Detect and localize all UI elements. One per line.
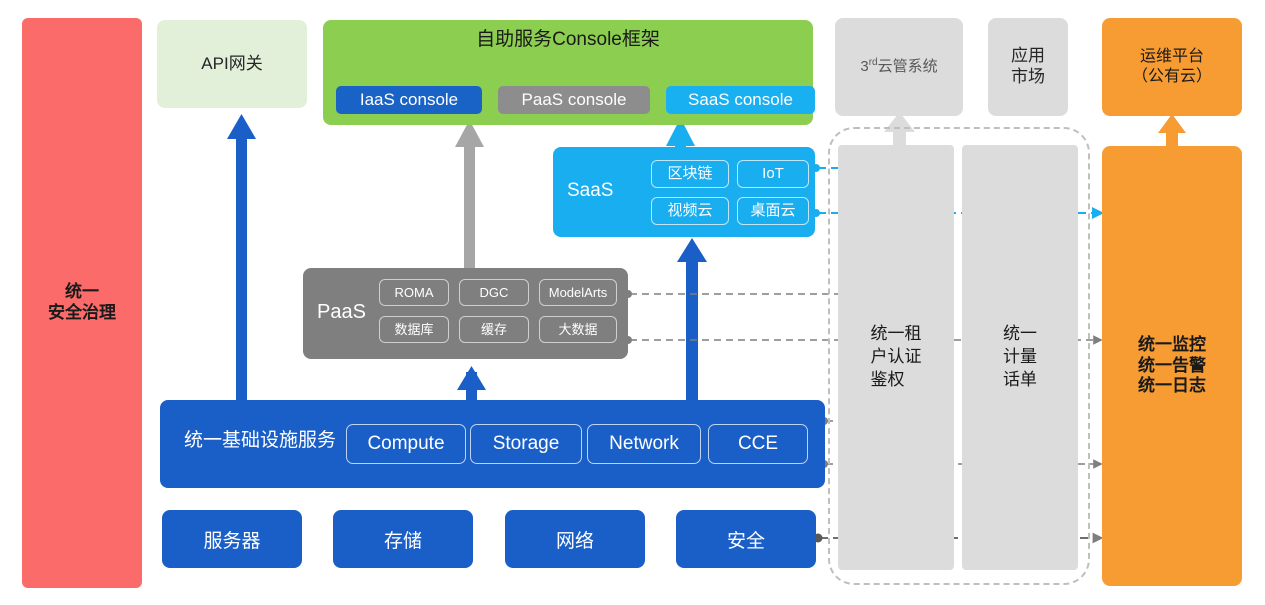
paas-chip-modelarts[interactable]: ModelArts [539,279,617,306]
ops-platform-top-box: 运维平台 （公有云） [1102,18,1242,116]
architecture-diagram: 统一 安全治理 API网关 自助服务Console框架 IaaS console… [0,0,1265,605]
infra-chip-cce[interactable]: CCE [708,424,808,464]
unified-infrastructure-label: 统一基础设施服务 [184,429,336,452]
console-frame-title: 自助服务Console框架 [323,28,813,51]
third-party-cloud-mgmt-box: 3rd云管系统 [835,18,963,116]
third-party-prefix: 3 [860,58,868,75]
paas-chip-database[interactable]: 数据库 [379,316,449,343]
paas-chip-dgc[interactable]: DGC [459,279,529,306]
console-chip-saas[interactable]: SaaS console [666,86,815,114]
resource-box-security[interactable]: 安全 [676,510,816,568]
ops-main-line2: 统一告警 [1138,356,1206,377]
arrow-infra-to-saas [677,238,707,405]
arrow-infra-to-paas [457,366,486,404]
paas-chip-bigdata[interactable]: 大数据 [539,316,617,343]
console-frame-panel: 自助服务Console框架 IaaS console PaaS console … [323,20,813,125]
ops-platform-top-line2: （公有云） [1132,67,1212,87]
mid-meter-line3: 话单 [1003,369,1037,392]
unified-infrastructure-panel: 统一基础设施服务 Compute Storage Network CCE [160,400,825,488]
arrow-ops-main-to-ops-top [1158,114,1186,148]
ops-platform-main-panel: 统一监控 统一告警 统一日志 [1102,146,1242,586]
app-market-box: 应用 市场 [988,18,1068,116]
mid-auth-line3: 鉴权 [871,369,922,392]
saas-chip-video-cloud[interactable]: 视频云 [651,197,729,225]
api-gateway-box: API网关 [157,20,307,108]
resource-box-network[interactable]: 网络 [505,510,645,568]
ops-platform-top-line1: 运维平台 [1132,47,1212,67]
mid-auth-line2: 户认证 [871,346,922,369]
paas-chip-cache[interactable]: 缓存 [459,316,529,343]
resource-box-server[interactable]: 服务器 [162,510,302,568]
infra-chip-compute[interactable]: Compute [346,424,466,464]
third-party-sup: rd [869,57,878,68]
infra-chip-network[interactable]: Network [587,424,701,464]
resource-box-storage[interactable]: 存储 [333,510,473,568]
saas-label: SaaS [567,179,613,202]
mid-auth-line1: 统一租 [871,323,922,346]
ops-main-line3: 统一日志 [1138,376,1206,397]
paas-chip-roma[interactable]: ROMA [379,279,449,306]
saas-chip-iot[interactable]: IoT [737,160,809,188]
unified-metering-column: 统一 计量 话单 [962,145,1078,570]
mid-meter-line2: 计量 [1003,346,1037,369]
console-chip-paas[interactable]: PaaS console [498,86,650,114]
unified-tenant-auth-column: 统一租 户认证 鉴权 [838,145,954,570]
app-market-line2: 市场 [1011,67,1045,88]
saas-chip-desktop-cloud[interactable]: 桌面云 [737,197,809,225]
security-governance-line2: 安全治理 [48,303,116,324]
paas-panel: PaaS ROMA DGC ModelArts 数据库 缓存 大数据 [303,268,628,359]
saas-chip-blockchain[interactable]: 区块链 [651,160,729,188]
arrow-infra-to-api-gateway [227,114,256,400]
third-party-suffix: 云管系统 [878,58,938,75]
security-governance-panel: 统一 安全治理 [22,18,142,588]
mid-meter-line1: 统一 [1003,323,1037,346]
api-gateway-label: API网关 [201,54,262,75]
security-governance-line1: 统一 [48,282,116,303]
infra-chip-storage[interactable]: Storage [470,424,582,464]
saas-panel: SaaS 区块链 IoT 视频云 桌面云 [553,147,815,237]
paas-label: PaaS [317,300,366,324]
app-market-line1: 应用 [1011,46,1045,67]
ops-main-line1: 统一监控 [1138,335,1206,356]
console-chip-iaas[interactable]: IaaS console [336,86,482,114]
arrow-paas-to-console [455,120,484,268]
